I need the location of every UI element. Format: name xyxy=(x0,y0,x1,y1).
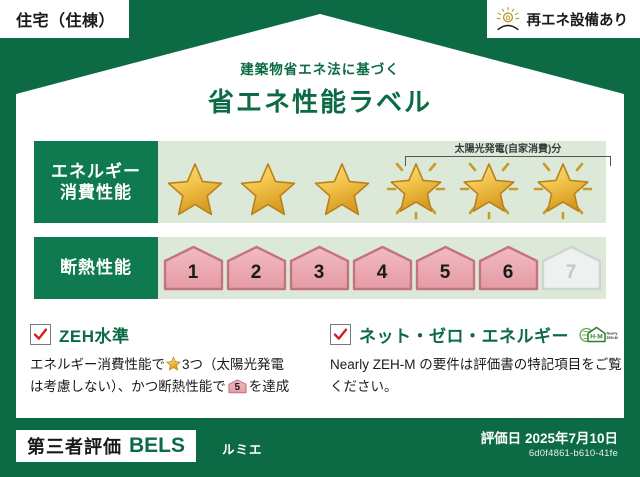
energy-star-solar xyxy=(383,158,449,220)
star-solar-icon xyxy=(382,156,450,222)
energy-label-line1: エネルギー xyxy=(51,161,141,182)
label-footer: 第三者評価 BELS ルミエ 評価日 2025年7月10日 6d0f4861-b… xyxy=(0,418,640,477)
insulation-grade-scale: 1 2 3 4 xyxy=(158,237,606,299)
grade-number: 4 xyxy=(377,263,388,291)
zeh-text-part1: エネルギー消費性能で xyxy=(30,357,165,372)
renewable-energy-chip: D 再エネ設備あり xyxy=(487,0,640,38)
energy-performance-row: エネルギー 消費性能 太陽光発電(自家消費)分 xyxy=(34,141,606,223)
energy-star-solar xyxy=(456,158,522,220)
bels-mark: BELS xyxy=(129,434,185,458)
building-type-chip: 住宅（住棟） xyxy=(0,0,129,38)
grade-number: 5 xyxy=(440,263,451,291)
insulation-row-label: 断熱性能 xyxy=(34,237,158,299)
energy-star xyxy=(162,158,228,220)
zeh-m-logo-icon: H·M Nearly ZEH-M xyxy=(579,324,619,346)
criteria-zeh-header: ZEH水準 xyxy=(30,322,322,347)
energy-star xyxy=(235,158,301,220)
svg-text:H·M: H·M xyxy=(590,333,603,340)
inline-grade-number: 5 xyxy=(228,381,247,394)
grade-number: 2 xyxy=(251,263,262,291)
zeh-title: ZEH水準 xyxy=(59,322,130,347)
energy-performance-label: 住宅（住棟） D 再エネ設備あり 建築物省エネ法に基づく 省エネ性能ラベル エネ xyxy=(0,0,640,477)
bels-chip: 第三者評価 BELS xyxy=(16,430,196,462)
building-type-label: 住宅（住棟） xyxy=(16,7,115,31)
inline-star-icon xyxy=(166,356,181,371)
star-solar-icon xyxy=(455,156,523,222)
evaluation-date: 評価日 2025年7月10日 xyxy=(481,427,618,447)
insulation-grade-house: 1 xyxy=(163,245,224,291)
energy-star xyxy=(309,158,375,220)
insulation-performance-row: 断熱性能 1 2 xyxy=(34,237,606,299)
grade-number: 7 xyxy=(566,263,577,291)
check-icon xyxy=(333,327,348,342)
grade-number: 6 xyxy=(503,263,514,291)
energy-star-rating xyxy=(158,157,600,221)
third-party-eval-label: 第三者評価 xyxy=(27,433,122,459)
grade-number: 3 xyxy=(314,263,325,291)
criteria-zeh: ZEH水準 エネルギー消費性能で3つ（太陽光発電は考慮しない）、かつ断熱性能で5… xyxy=(30,322,322,398)
svg-text:ZEH-M: ZEH-M xyxy=(606,335,617,339)
insulation-grade-house: 3 xyxy=(289,245,350,291)
renewable-energy-label: 再エネ設備あり xyxy=(527,9,629,30)
star-solar-icon xyxy=(529,156,597,222)
zeh-text-part4: を達成 xyxy=(249,379,290,394)
criteria-nze-header: ネット・ゼロ・エネルギー H·M Nearly ZEH-M xyxy=(330,322,622,347)
energy-star-solar xyxy=(530,158,596,220)
insulation-grade-house: 5 xyxy=(415,245,476,291)
nze-description: Nearly ZEH-M の要件は評価書の特記項目をご覧ください。 xyxy=(330,354,622,398)
insulation-grade-house-inactive: 7 xyxy=(541,245,602,291)
solar-sun-icon: D xyxy=(495,6,521,32)
nze-title: ネット・ゼロ・エネルギー xyxy=(359,322,569,347)
star-icon xyxy=(239,161,297,217)
zeh-description: エネルギー消費性能で3つ（太陽光発電は考慮しない）、かつ断熱性能で5を達成 xyxy=(30,354,322,398)
solar-annotation-label: 太陽光発電(自家消費)分 xyxy=(401,140,615,155)
criteria-net-zero-energy: ネット・ゼロ・エネルギー H·M Nearly ZEH-M Nearly ZEH… xyxy=(330,322,622,398)
insulation-grade-house: 2 xyxy=(226,245,287,291)
zeh-text-part2: 3つ（太陽光発電 xyxy=(182,357,284,372)
nze-checkbox[interactable] xyxy=(330,324,351,345)
title-main: 省エネ性能ラベル xyxy=(0,82,640,119)
zeh-text-part3: は考慮しない）、かつ断熱性能で xyxy=(30,379,226,394)
grade-number: 1 xyxy=(188,263,199,291)
evaluation-id: 6d0f4861-b610-41fe xyxy=(529,448,618,459)
energy-label-line2: 消費性能 xyxy=(60,182,132,203)
zeh-checkbox[interactable] xyxy=(30,324,51,345)
insulation-grade-body: 1 2 3 4 xyxy=(158,237,606,299)
star-icon xyxy=(313,161,371,217)
star-icon xyxy=(166,161,224,217)
svg-text:D: D xyxy=(505,16,510,22)
insulation-grade-house: 4 xyxy=(352,245,413,291)
insulation-grade-house: 6 xyxy=(478,245,539,291)
builder-name: ルミエ xyxy=(222,439,263,458)
check-icon xyxy=(33,327,48,342)
energy-rating-body: 太陽光発電(自家消費)分 xyxy=(158,141,606,223)
inline-grade-badge: 5 xyxy=(228,379,247,394)
energy-performance-row-label: エネルギー 消費性能 xyxy=(34,141,158,223)
label-title-block: 建築物省エネ法に基づく 省エネ性能ラベル xyxy=(0,58,640,119)
title-subtitle: 建築物省エネ法に基づく xyxy=(0,58,640,78)
